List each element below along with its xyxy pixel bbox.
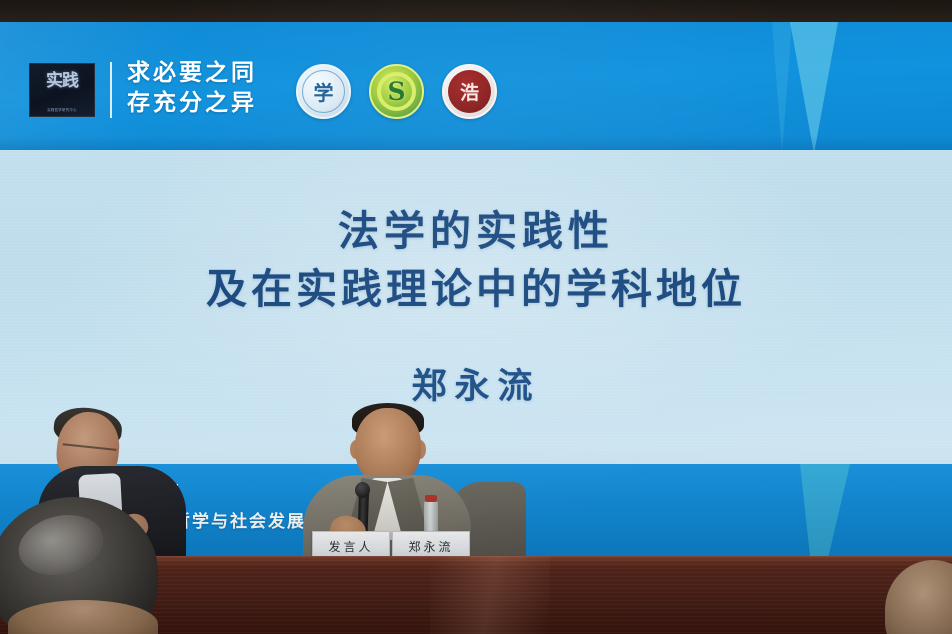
placard-role-label: 发言人 xyxy=(328,538,373,555)
conference-photo-scene: 实践 实践哲学研究中心 求必要之同 存充分之异 学 S 浩 法学的实践性 及在实… xyxy=(0,0,952,634)
slogan-line-1: 求必要之同 xyxy=(127,58,257,88)
banner-vertical-divider xyxy=(110,62,112,118)
microphone-head xyxy=(355,482,370,498)
slide-speaker-name: 郑永流 xyxy=(0,358,952,409)
water-bottle-cap xyxy=(425,495,437,502)
slide-title-line-2: 及在实践理论中的学科地位 xyxy=(0,260,952,318)
university-seal-logo-glyph: 学 xyxy=(314,77,334,106)
banner-slogan: 求必要之同 存充分之异 xyxy=(127,58,257,118)
ceiling-dark-band xyxy=(0,0,952,24)
red-seal-logo: 浩 xyxy=(442,64,497,119)
banner-logo-row: 学 S 浩 xyxy=(296,64,497,119)
placard-name-label: 郑永流 xyxy=(408,538,453,555)
banner-wedge-shadow xyxy=(772,22,792,154)
slogan-line-2: 存充分之异 xyxy=(127,88,257,118)
seal-logo-block: 实践 实践哲学研究中心 xyxy=(29,63,95,117)
slide-title: 法学的实践性 及在实践理论中的学科地位 xyxy=(0,202,952,318)
projected-slide: 法学的实践性 及在实践理论中的学科地位 郑永流 xyxy=(0,150,952,470)
slide-title-line-1: 法学的实践性 xyxy=(0,202,952,260)
seal-logo-subtext: 实践哲学研究中心 xyxy=(30,107,94,112)
red-seal-logo-glyph: 浩 xyxy=(460,78,479,105)
table-light-reflection xyxy=(430,556,550,634)
banner-wedge-triangle xyxy=(790,22,838,154)
s-emblem-logo: S xyxy=(369,64,424,119)
s-emblem-logo-glyph: S xyxy=(387,77,405,106)
university-seal-logo: 学 xyxy=(296,64,351,119)
